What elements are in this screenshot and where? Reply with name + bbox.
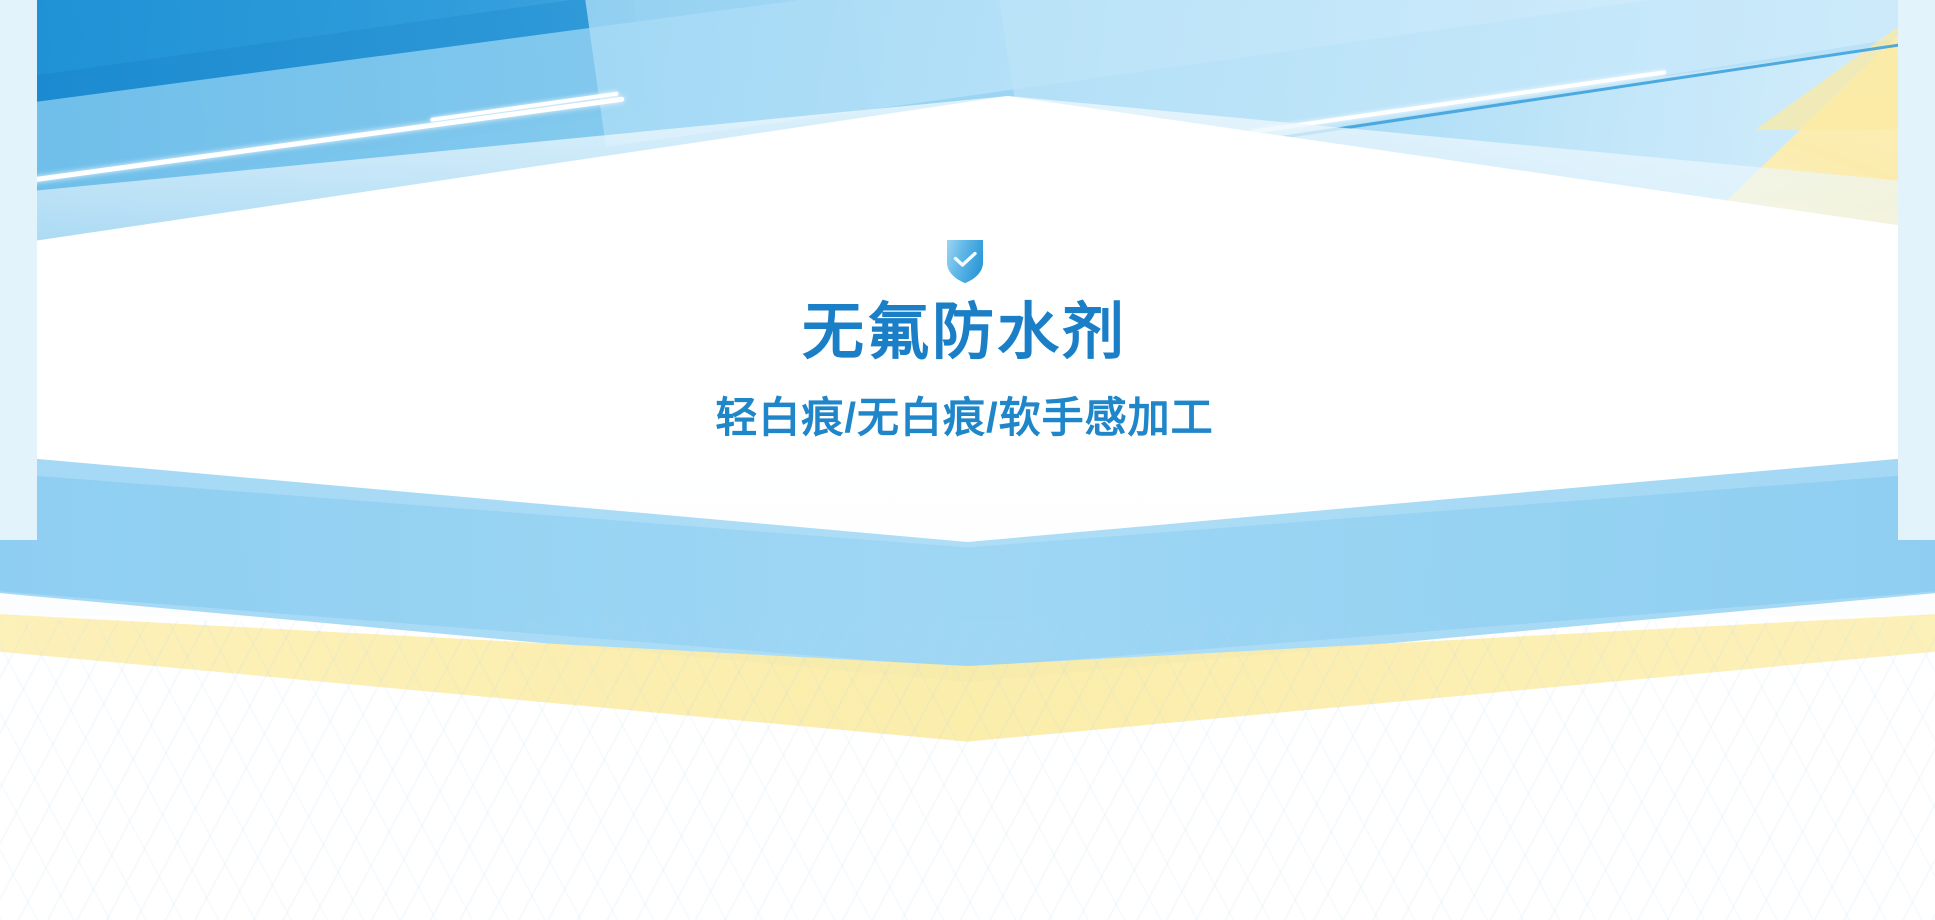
shield-check-icon (943, 236, 987, 284)
bottom-watermark-texture (0, 620, 1935, 920)
page-subtitle: 轻白痕/无白痕/软手感加工 (715, 395, 1213, 441)
chevron-band-yellow (0, 612, 1935, 762)
chevron-band-blue-deep (0, 470, 1935, 685)
banner-content: 无氟防水剂 轻白痕/无白痕/软手感加工 (0, 0, 1932, 441)
page-title: 无氟防水剂 (802, 300, 1127, 365)
product-hero-banner: 无氟防水剂 轻白痕/无白痕/软手感加工 (0, 0, 1935, 920)
chevron-band-white (0, 648, 1935, 908)
chevron-band-blue (0, 452, 1935, 702)
